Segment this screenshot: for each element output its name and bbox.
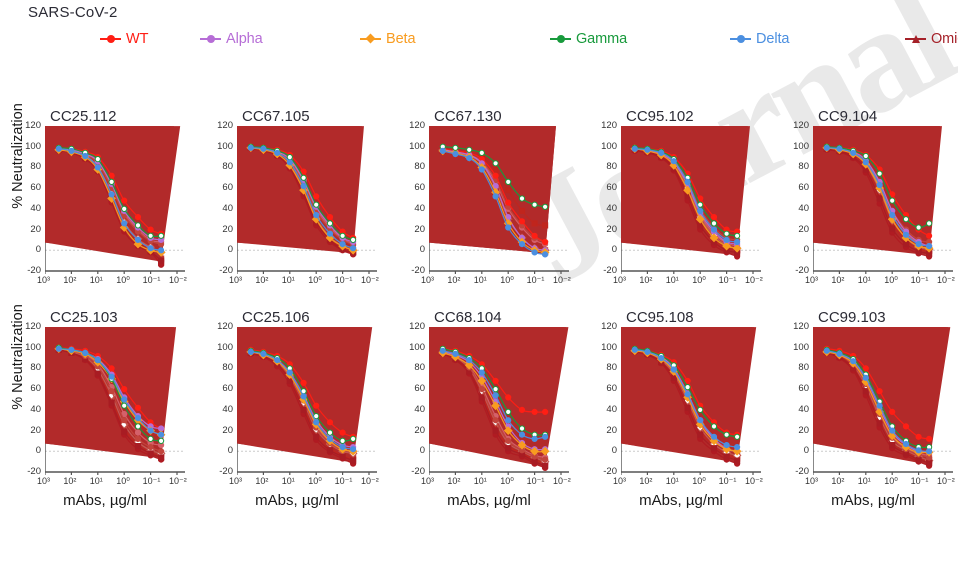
y-tick-label: -20 <box>399 467 425 476</box>
plot-area: -2002040608010012010³10²10¹10⁰10⁻¹10⁻² <box>813 126 945 271</box>
figure-legend: SARS-CoV-2 WT Alpha Beta Gamma Delta <box>0 0 958 110</box>
plot-area: -2002040608010012010³10²10¹10⁰10⁻¹10⁻² <box>429 327 561 472</box>
y-tick-label: -20 <box>591 467 617 476</box>
neutralization-curves <box>237 327 383 486</box>
y-tick-label: -20 <box>15 266 41 275</box>
y-tick-label: 0 <box>207 245 233 254</box>
panel-title: CC25.112 <box>50 108 116 125</box>
panel-cc68-104: CC68.104mAbs, µg/ml-2002040608010012010³… <box>388 309 580 514</box>
panel-title: CC25.103 <box>50 309 118 326</box>
legend-marker <box>905 33 926 45</box>
x-axis-label: mAbs, µg/ml <box>414 492 564 509</box>
y-tick-label: 40 <box>399 405 425 414</box>
legend-label: Gamma <box>576 27 627 51</box>
y-tick-label: 20 <box>783 225 809 234</box>
y-tick-label: 120 <box>15 322 41 331</box>
neutralization-curves <box>237 126 383 285</box>
panel-row-top: CC25.112% Neutralization-200204060801001… <box>0 108 958 313</box>
y-tick-label: 100 <box>15 343 41 352</box>
y-tick-label: 120 <box>783 121 809 130</box>
legend-label: Delta <box>756 27 789 51</box>
legend-marker-circle <box>557 35 565 43</box>
y-tick-label: -20 <box>207 266 233 275</box>
y-tick-label: 0 <box>591 446 617 455</box>
y-tick-label: 80 <box>15 162 41 171</box>
panel-cc9-104: CC9.104-2002040608010012010³10²10¹10⁰10⁻… <box>772 108 958 313</box>
y-tick-label: -20 <box>207 467 233 476</box>
y-tick-label: 0 <box>399 245 425 254</box>
neutralization-curves <box>429 327 575 486</box>
legend-label: Beta <box>386 27 415 51</box>
y-tick-label: 20 <box>399 426 425 435</box>
y-tick-label: 20 <box>591 426 617 435</box>
legend-marker-triangle <box>912 35 920 43</box>
panel-row-bottom: CC25.103% NeutralizationmAbs, µg/ml-2002… <box>0 309 958 514</box>
neutralization-curves <box>429 126 575 285</box>
legend-item-gamma[interactable]: Gamma <box>550 27 730 51</box>
y-tick-label: -20 <box>399 266 425 275</box>
legend-item-delta[interactable]: Delta <box>730 27 905 51</box>
panel-cc95-108: CC95.108mAbs, µg/ml-2002040608010012010³… <box>580 309 772 514</box>
y-tick-label: 100 <box>15 142 41 151</box>
y-tick-label: 0 <box>207 446 233 455</box>
legend-marker-circle <box>207 35 215 43</box>
y-tick-label: 100 <box>783 343 809 352</box>
neutralization-curves <box>621 126 767 285</box>
y-tick-label: 40 <box>15 405 41 414</box>
legend-marker <box>550 33 571 45</box>
neutralization-curves <box>45 126 191 285</box>
legend-label: Omicron BA.1 <box>931 27 958 51</box>
y-tick-label: 100 <box>399 343 425 352</box>
y-tick-label: 120 <box>399 121 425 130</box>
y-tick-label: 40 <box>591 204 617 213</box>
y-tick-label: -20 <box>783 467 809 476</box>
y-tick-label: 0 <box>783 446 809 455</box>
y-tick-label: 100 <box>783 142 809 151</box>
plot-area: -2002040608010012010³10²10¹10⁰10⁻¹10⁻² <box>237 327 369 472</box>
y-tick-label: 20 <box>207 225 233 234</box>
y-tick-label: 0 <box>783 245 809 254</box>
legend-marker <box>360 33 381 45</box>
y-tick-label: 80 <box>783 162 809 171</box>
y-tick-label: 20 <box>15 426 41 435</box>
y-tick-label: 80 <box>207 162 233 171</box>
y-tick-label: 80 <box>399 363 425 372</box>
y-tick-label: 40 <box>15 204 41 213</box>
legend-marker-circle <box>107 35 115 43</box>
y-tick-label: 20 <box>591 225 617 234</box>
y-tick-label: 120 <box>591 121 617 130</box>
legend-item-beta[interactable]: Beta <box>360 27 550 51</box>
y-tick-label: 40 <box>207 204 233 213</box>
y-tick-label: 0 <box>591 245 617 254</box>
y-tick-label: 60 <box>207 384 233 393</box>
x-axis-label: mAbs, µg/ml <box>798 492 948 509</box>
y-tick-label: 60 <box>15 384 41 393</box>
panel-cc25-106: CC25.106mAbs, µg/ml-2002040608010012010³… <box>196 309 388 514</box>
panel-title: CC95.108 <box>626 309 694 326</box>
y-tick-label: -20 <box>783 266 809 275</box>
plot-area: -2002040608010012010³10²10¹10⁰10⁻¹10⁻² <box>429 126 561 271</box>
plot-area: -2002040608010012010³10²10¹10⁰10⁻¹10⁻² <box>813 327 945 472</box>
y-tick-label: 20 <box>207 426 233 435</box>
y-tick-label: 80 <box>591 363 617 372</box>
y-tick-label: 80 <box>207 363 233 372</box>
plot-area: -2002040608010012010³10²10¹10⁰10⁻¹10⁻² <box>45 327 177 472</box>
legend-items-grid: WT Alpha Beta Gamma Delta Omicron BA.1 <box>100 27 958 51</box>
panel-title: CC99.103 <box>818 309 886 326</box>
legend-marker <box>200 33 221 45</box>
neutralization-curves <box>813 126 958 285</box>
plot-area: -2002040608010012010³10²10¹10⁰10⁻¹10⁻² <box>621 327 753 472</box>
neutralization-curves <box>45 327 191 486</box>
panel-cc25-112: CC25.112% Neutralization-200204060801001… <box>4 108 196 313</box>
y-tick-label: 40 <box>591 405 617 414</box>
y-tick-label: 120 <box>783 322 809 331</box>
panel-title: CC67.105 <box>242 108 310 125</box>
y-tick-label: 20 <box>15 225 41 234</box>
panel-title: CC25.106 <box>242 309 310 326</box>
y-tick-label: 60 <box>783 384 809 393</box>
panel-cc67-105: CC67.105-2002040608010012010³10²10¹10⁰10… <box>196 108 388 313</box>
y-tick-label: 100 <box>591 142 617 151</box>
y-tick-label: 40 <box>783 405 809 414</box>
x-axis-label: mAbs, µg/ml <box>30 492 180 509</box>
panel-cc25-103: CC25.103% NeutralizationmAbs, µg/ml-2002… <box>4 309 196 514</box>
plot-area: -2002040608010012010³10²10¹10⁰10⁻¹10⁻² <box>237 126 369 271</box>
legend-marker-circle <box>737 35 745 43</box>
y-tick-label: 100 <box>207 142 233 151</box>
y-tick-label: 0 <box>15 446 41 455</box>
y-tick-label: 120 <box>207 121 233 130</box>
y-tick-label: 100 <box>399 142 425 151</box>
panel-title: CC68.104 <box>434 309 502 326</box>
y-tick-label: 120 <box>15 121 41 130</box>
legend-label: Alpha <box>226 27 263 51</box>
legend-item-omicron-ba-1[interactable]: Omicron BA.1 <box>905 27 958 51</box>
panel-cc95-102: CC95.102-2002040608010012010³10²10¹10⁰10… <box>580 108 772 313</box>
y-tick-label: 60 <box>783 183 809 192</box>
neutralization-curves <box>621 327 767 486</box>
y-tick-label: 60 <box>591 183 617 192</box>
y-tick-label: 80 <box>591 162 617 171</box>
y-tick-label: 60 <box>591 384 617 393</box>
panel-title: CC9.104 <box>818 108 877 125</box>
y-tick-label: 40 <box>783 204 809 213</box>
plot-area: -2002040608010012010³10²10¹10⁰10⁻¹10⁻² <box>621 126 753 271</box>
legend-item-alpha[interactable]: Alpha <box>200 27 360 51</box>
x-axis-label: mAbs, µg/ml <box>222 492 372 509</box>
legend-marker <box>730 33 751 45</box>
panel-cc67-130: CC67.130-2002040608010012010³10²10¹10⁰10… <box>388 108 580 313</box>
legend-item-wt[interactable]: WT <box>100 27 200 51</box>
y-tick-label: 120 <box>591 322 617 331</box>
legend-title: SARS-CoV-2 <box>28 4 118 21</box>
panel-title: CC95.102 <box>626 108 694 125</box>
neutralization-curves <box>813 327 958 486</box>
y-tick-label: 120 <box>399 322 425 331</box>
y-tick-label: 80 <box>783 363 809 372</box>
legend-marker <box>100 33 121 45</box>
panel-grid: CC25.112% Neutralization-200204060801001… <box>0 108 958 526</box>
y-tick-label: 40 <box>399 204 425 213</box>
y-tick-label: 60 <box>15 183 41 192</box>
y-tick-label: 20 <box>783 426 809 435</box>
y-tick-label: 60 <box>207 183 233 192</box>
y-tick-label: -20 <box>15 467 41 476</box>
panel-cc99-103: CC99.103mAbs, µg/ml-2002040608010012010³… <box>772 309 958 514</box>
y-tick-label: 40 <box>207 405 233 414</box>
panel-title: CC67.130 <box>434 108 502 125</box>
y-tick-label: 0 <box>399 446 425 455</box>
legend-marker-diamond <box>366 34 376 44</box>
y-tick-label: 80 <box>15 363 41 372</box>
y-tick-label: -20 <box>591 266 617 275</box>
y-tick-label: 20 <box>399 225 425 234</box>
legend-label: WT <box>126 27 148 51</box>
x-axis-label: mAbs, µg/ml <box>606 492 756 509</box>
y-tick-label: 100 <box>207 343 233 352</box>
plot-area: -2002040608010012010³10²10¹10⁰10⁻¹10⁻² <box>45 126 177 271</box>
y-tick-label: 120 <box>207 322 233 331</box>
y-tick-label: 80 <box>399 162 425 171</box>
y-tick-label: 60 <box>399 183 425 192</box>
y-tick-label: 100 <box>591 343 617 352</box>
y-tick-label: 60 <box>399 384 425 393</box>
y-tick-label: 0 <box>15 245 41 254</box>
